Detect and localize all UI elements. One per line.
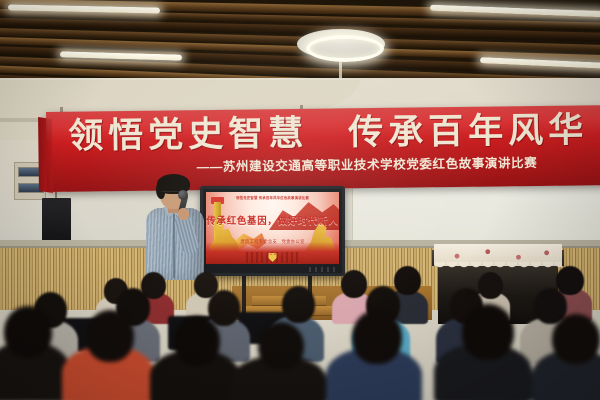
banner-main-text: 领悟党史智慧 传承百年风华 xyxy=(68,110,600,157)
slide-title-text: 传承红色基因，做好时代新人 xyxy=(206,215,339,227)
audience-head xyxy=(341,270,367,298)
microphone-icon xyxy=(178,190,188,200)
audience-head xyxy=(478,272,503,299)
audience-head xyxy=(208,290,240,326)
audience-head xyxy=(552,314,600,364)
piano-lace-trim xyxy=(434,262,562,271)
audience-head xyxy=(4,306,52,358)
audience-head xyxy=(282,286,315,323)
slide-date-text: 2021.5.20 xyxy=(206,251,339,257)
photo-scene: 领悟党史智慧 传承百年风华 ——苏州建设交通高等职业技术学校党委红色故事演讲比赛… xyxy=(0,0,600,400)
red-banner: 领悟党史智慧 传承百年风华 ——苏州建设交通高等职业技术学校党委红色故事演讲比赛 xyxy=(46,105,600,192)
banner-sub-text: ——苏州建设交通高等职业技术学校党委红色故事演讲比赛 xyxy=(197,154,600,174)
slide-org-text: 建筑工程系党总支 党委办公室 xyxy=(206,239,339,245)
display-bezel-controls[interactable] xyxy=(309,267,335,272)
audience-head xyxy=(394,266,421,295)
presentation-slide: 领悟党史智慧 传承百年风华红色故事演讲比赛 传承红色基因，做好时代新人 建筑工程… xyxy=(206,192,339,264)
slide-header-text: 领悟党史智慧 传承百年风华红色故事演讲比赛 xyxy=(206,196,339,201)
projection-display[interactable]: 领悟党史智慧 传承百年风华红色故事演讲比赛 传承红色基因，做好时代新人 建筑工程… xyxy=(200,186,345,276)
audience-head xyxy=(86,310,134,362)
audience-head xyxy=(174,316,220,366)
audience-head xyxy=(258,322,304,370)
audience-head xyxy=(352,310,402,364)
audience-head xyxy=(462,304,514,360)
ring-pendant-light xyxy=(297,29,385,59)
